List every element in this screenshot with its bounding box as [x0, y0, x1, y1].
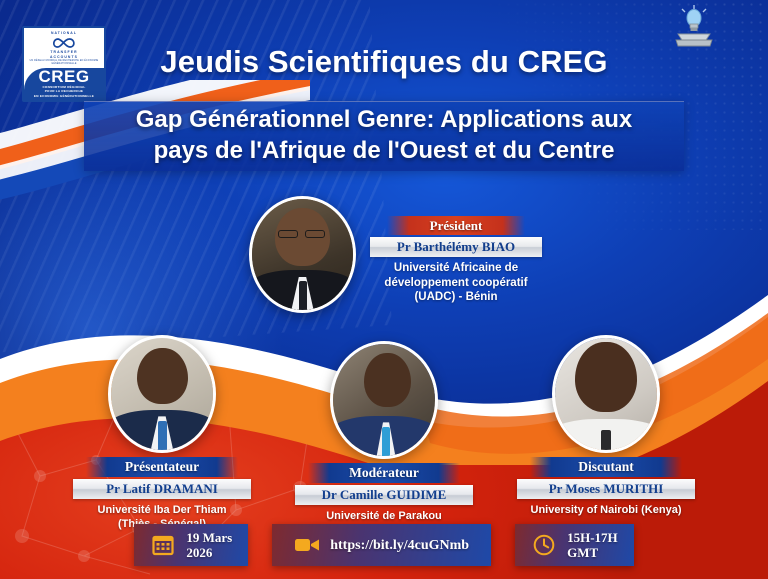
moderateur-affiliation-line1: Université de Parakou	[279, 509, 489, 523]
footer-info-bar: 19 Mars 2026 https://bit.ly/4cuGNmb	[0, 524, 768, 566]
logo-org-line1: NATIONAL	[51, 31, 77, 35]
calendar-icon	[150, 532, 176, 558]
president-photo	[249, 196, 356, 313]
presentateur-affiliation-line1: Université Iba Der Thiam	[57, 503, 267, 517]
meeting-link-text[interactable]: https://bit.ly/4cuGNmb	[330, 538, 469, 553]
time-chip[interactable]: 15H-17H GMT	[515, 524, 634, 566]
discutant-role-badge: Discutant	[530, 457, 682, 477]
discutant-affiliation-line1: University of Nairobi (Kenya)	[501, 503, 711, 517]
page-subtitle: Gap Générationnel Genre: Applications au…	[64, 104, 704, 166]
moderateur-role-badge: Modérateur	[308, 463, 460, 483]
president-name-bar: Pr Barthélémy BIAO	[370, 237, 542, 257]
presentateur-name-bar: Pr Latif DRAMANI	[73, 479, 251, 499]
date-line2: 2026	[186, 545, 232, 560]
meeting-link-chip[interactable]: https://bit.ly/4cuGNmb	[272, 524, 491, 566]
speaker-card-moderateur: Modérateur Dr Camille GUIDIME Université…	[279, 341, 489, 537]
president-role-badge: Président	[387, 216, 525, 235]
moderateur-photo	[330, 341, 438, 459]
discutant-name-bar: Pr Moses MURITHI	[517, 479, 695, 499]
president-affiliation-line3: (UADC) - Bénin	[356, 290, 556, 305]
page-subtitle-line2: pays de l'Afrique de l'Ouest et du Centr…	[64, 135, 704, 166]
time-line1: 15H-17H	[567, 530, 618, 545]
date-chip[interactable]: 19 Mars 2026	[134, 524, 248, 566]
president-affiliation-line2: développement coopératif	[356, 276, 556, 291]
time-line2: GMT	[567, 545, 618, 560]
date-text: 19 Mars 2026	[186, 530, 232, 560]
presentateur-role-badge: Présentateur	[86, 457, 238, 477]
date-line1: 19 Mars	[186, 530, 232, 545]
page-subtitle-line1: Gap Générationnel Genre: Applications au…	[64, 104, 704, 135]
page-title: Jeudis Scientifiques du CREG	[0, 44, 768, 80]
president-info: Président Pr Barthélémy BIAO Université …	[356, 216, 556, 305]
president-affiliation-line1: Université Africaine de	[356, 261, 556, 276]
clock-icon	[531, 532, 557, 558]
discutant-photo	[552, 335, 660, 453]
moderateur-name-bar: Dr Camille GUIDIME	[295, 485, 473, 505]
time-text: 15H-17H GMT	[567, 530, 618, 560]
speaker-card-presentateur: Présentateur Pr Latif DRAMANI Université…	[57, 335, 267, 531]
presentateur-photo	[108, 335, 216, 453]
video-camera-icon	[294, 532, 320, 558]
speaker-card-discutant: Discutant Pr Moses MURITHI University of…	[501, 335, 711, 517]
logo-tagline-3: EN ECONOMIE GÉNÉRATIONNELLE	[34, 94, 94, 98]
webinar-poster: NATIONAL TRANSFER ACCOUNTS UN RÉSEAU MON…	[0, 0, 768, 579]
